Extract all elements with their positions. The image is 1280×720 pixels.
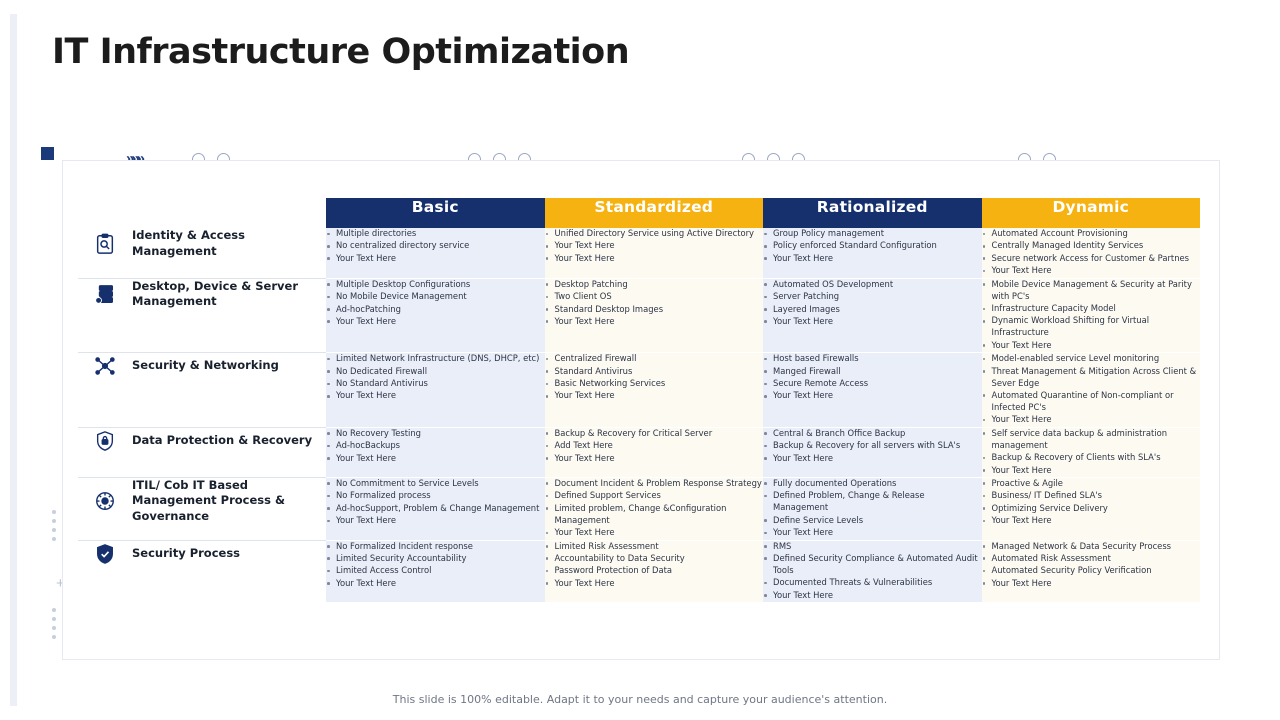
cell-basic-identity: Multiple directories No centralized dire…: [326, 228, 545, 278]
bullet: Automated Quarantine of Non-compliant or…: [982, 390, 1201, 414]
bullet: Manged Firewall: [763, 366, 982, 378]
bullet: Your Text Here: [545, 390, 764, 402]
bullet: Your Text Here: [326, 316, 545, 328]
bullet: Multiple Desktop Configurations: [326, 279, 545, 291]
bullet: Password Protection of Data: [545, 565, 764, 577]
bullet: Your Text Here: [982, 414, 1201, 426]
cell-basic-itil: No Commitment to Service Levels No Forma…: [326, 477, 545, 540]
cell-rationalized-security-process: RMS Defined Security Compliance & Automa…: [763, 540, 982, 603]
bullet: Basic Networking Services: [545, 378, 764, 390]
bullet: Group Policy management: [763, 228, 982, 240]
bullet: Your Text Here: [326, 578, 545, 590]
page-title: IT Infrastructure Optimization: [52, 32, 629, 72]
bullet: Unified Directory Service using Active D…: [545, 228, 764, 240]
side-dots-upper: [52, 510, 56, 541]
bullet: Backup & Recovery of Clients with SLA's: [982, 452, 1201, 464]
bullet: Automated Account Provisioning: [982, 228, 1201, 240]
bullet: RMS: [763, 541, 982, 553]
bullet: Ad-hocSupport, Problem & Change Manageme…: [326, 503, 545, 515]
bullet: Your Text Here: [763, 390, 982, 402]
row-label-security-process: Security Process: [78, 540, 326, 603]
cell-standardized-data-protection: Backup & Recovery for Critical Server Ad…: [545, 427, 764, 477]
bullet: No Mobile Device Management: [326, 291, 545, 303]
cell-basic-security-process: No Formalized Incident response Limited …: [326, 540, 545, 603]
cell-standardized-desktop: Desktop Patching Two Client OS Standard …: [545, 278, 764, 353]
bullet: Define Service Levels: [763, 515, 982, 527]
cell-dynamic-itil: Proactive & Agile Business/ IT Defined S…: [982, 477, 1201, 540]
bullet: Centrally Managed Identity Services: [982, 240, 1201, 252]
bullet: Centralized Firewall: [545, 353, 764, 365]
bullet: Your Text Here: [545, 253, 764, 265]
row-label-text: Data Protection & Recovery: [132, 433, 312, 449]
bullet: Backup & Recovery for all servers with S…: [763, 440, 982, 452]
bullet: No Commitment to Service Levels: [326, 478, 545, 490]
header-spacer: [78, 198, 326, 228]
bullet: Standard Antivirus: [545, 366, 764, 378]
row-label-security-networking: Security & Networking: [78, 353, 326, 428]
bullet: No Dedicated Firewall: [326, 366, 545, 378]
bullet: Your Text Here: [763, 253, 982, 265]
bullet: Secure Remote Access: [763, 378, 982, 390]
bullet: Infrastructure Capacity Model: [982, 303, 1201, 315]
footer-note: This slide is 100% editable. Adapt it to…: [0, 693, 1280, 706]
accent-square: [41, 147, 54, 160]
cell-rationalized-itil: Fully documented Operations Defined Prob…: [763, 477, 982, 540]
bullet: Self service data backup & administratio…: [982, 428, 1201, 452]
row-label-text: Security & Networking: [132, 358, 279, 374]
bullet: Your Text Here: [982, 340, 1201, 352]
bullet: Your Text Here: [545, 527, 764, 539]
column-header-standardized: Standardized: [545, 198, 764, 228]
bullet: Desktop Patching: [545, 279, 764, 291]
bullet: Your Text Here: [763, 316, 982, 328]
bullet: No Formalized process: [326, 490, 545, 502]
bullet: Defined Support Services: [545, 490, 764, 502]
bullet: No centralized directory service: [326, 240, 545, 252]
bullet: Limited Access Control: [326, 565, 545, 577]
bullet: Server Patching: [763, 291, 982, 303]
bullet: Automated Security Policy Verification: [982, 565, 1201, 577]
column-header-dynamic: Dynamic: [982, 198, 1201, 228]
row-label-itil-cobit-governance: ITIL/ Cob IT Based Management Process & …: [78, 477, 326, 540]
cell-dynamic-security-networking: Model-enabled service Level monitoring T…: [982, 353, 1201, 428]
side-dots-lower: [52, 608, 56, 639]
row-label-text: Identity & Access Management: [132, 228, 326, 259]
column-header-basic: Basic: [326, 198, 545, 228]
bullet: Your Text Here: [982, 515, 1201, 527]
matrix-header-row: Basic Standardized Rationalized Dynamic: [78, 198, 1200, 228]
bullet: Your Text Here: [326, 515, 545, 527]
cell-standardized-itil: Document Incident & Problem Response Str…: [545, 477, 764, 540]
maturity-matrix: Basic Standardized Rationalized Dynamic …: [78, 198, 1200, 603]
table-row: Identity & Access Management Multiple di…: [78, 228, 1200, 278]
row-label-text: ITIL/ Cob IT Based Management Process & …: [132, 478, 326, 525]
cell-rationalized-security-networking: Host based Firewalls Manged Firewall Sec…: [763, 353, 982, 428]
shield-check-icon: [92, 541, 118, 567]
bullet: Secure network Access for Customer & Par…: [982, 253, 1201, 265]
table-row: Security Process No Formalized Incident …: [78, 540, 1200, 603]
bullet: Multiple directories: [326, 228, 545, 240]
bullet: Central & Branch Office Backup: [763, 428, 982, 440]
bullet: Business/ IT Defined SLA's: [982, 490, 1201, 502]
table-row: Security & Networking Limited Network In…: [78, 353, 1200, 428]
bullet: Your Text Here: [982, 578, 1201, 590]
bullet: Dynamic Workload Shifting for Virtual In…: [982, 315, 1201, 339]
bullet: No Formalized Incident response: [326, 541, 545, 553]
data-shield-lock-icon: [92, 428, 118, 454]
bullet: Your Text Here: [982, 265, 1201, 277]
bullet: Standard Desktop Images: [545, 304, 764, 316]
bullet: Fully documented Operations: [763, 478, 982, 490]
bullet: Limited Security Accountability: [326, 553, 545, 565]
bullet: Your Text Here: [763, 590, 982, 602]
server-gear-icon: [92, 281, 118, 307]
cell-rationalized-desktop: Automated OS Development Server Patching…: [763, 278, 982, 353]
bullet: Proactive & Agile: [982, 478, 1201, 490]
bullet: Documented Threats & Vulnerabilities: [763, 577, 982, 589]
bullet: Defined Security Compliance & Automated …: [763, 553, 982, 577]
bullet: Limited Risk Assessment: [545, 541, 764, 553]
column-header-rationalized: Rationalized: [763, 198, 982, 228]
bullet: Threat Management & Mitigation Across Cl…: [982, 366, 1201, 390]
bullet: Automated OS Development: [763, 279, 982, 291]
bullet: Your Text Here: [326, 253, 545, 265]
bullet: Accountability to Data Security: [545, 553, 764, 565]
bullet: Your Text Here: [763, 527, 982, 539]
bullet: Limited problem, Change &Configuration M…: [545, 503, 764, 527]
bullet: Document Incident & Problem Response Str…: [545, 478, 764, 490]
process-gear-icon: [92, 488, 118, 514]
bullet: Ad-hocPatching: [326, 304, 545, 316]
cell-basic-desktop: Multiple Desktop Configurations No Mobil…: [326, 278, 545, 353]
bullet: Automated Risk Assessment: [982, 553, 1201, 565]
bullet: Backup & Recovery for Critical Server: [545, 428, 764, 440]
bullet: Optimizing Service Delivery: [982, 503, 1201, 515]
network-nodes-icon: [92, 353, 118, 379]
bullet: Ad-hocBackups: [326, 440, 545, 452]
bullet: Layered Images: [763, 304, 982, 316]
cell-basic-data-protection: No Recovery Testing Ad-hocBackups Your T…: [326, 427, 545, 477]
row-label-data-protection-recovery: Data Protection & Recovery: [78, 427, 326, 477]
bullet: Your Text Here: [545, 316, 764, 328]
cell-basic-security-networking: Limited Network Infrastructure (DNS, DHC…: [326, 353, 545, 428]
bullet: Your Text Here: [763, 453, 982, 465]
bullet: No Recovery Testing: [326, 428, 545, 440]
row-label-text: Security Process: [132, 546, 240, 562]
bullet: Mobile Device Management & Security at P…: [982, 279, 1201, 303]
bullet: Your Text Here: [982, 465, 1201, 477]
bullet: Policy enforced Standard Configuration: [763, 240, 982, 252]
bullet: Your Text Here: [545, 240, 764, 252]
row-label-identity-access-management: Identity & Access Management: [78, 228, 326, 278]
cell-rationalized-identity: Group Policy management Policy enforced …: [763, 228, 982, 278]
bullet: No Standard Antivirus: [326, 378, 545, 390]
bullet: Two Client OS: [545, 291, 764, 303]
cell-dynamic-desktop: Mobile Device Management & Security at P…: [982, 278, 1201, 353]
cell-dynamic-identity: Automated Account Provisioning Centrally…: [982, 228, 1201, 278]
bullet: Add Text Here: [545, 440, 764, 452]
bullet: Model-enabled service Level monitoring: [982, 353, 1201, 365]
bullet: Defined Problem, Change & Release Manage…: [763, 490, 982, 514]
table-row: ITIL/ Cob IT Based Management Process & …: [78, 477, 1200, 540]
bullet: Host based Firewalls: [763, 353, 982, 365]
cell-standardized-security-networking: Centralized Firewall Standard Antivirus …: [545, 353, 764, 428]
cell-rationalized-data-protection: Central & Branch Office Backup Backup & …: [763, 427, 982, 477]
cell-standardized-identity: Unified Directory Service using Active D…: [545, 228, 764, 278]
row-label-text: Desktop, Device & Server Management: [132, 279, 326, 310]
row-label-desktop-device-server-management: Desktop, Device & Server Management: [78, 278, 326, 353]
cell-dynamic-data-protection: Self service data backup & administratio…: [982, 427, 1201, 477]
cell-standardized-security-process: Limited Risk Assessment Accountability t…: [545, 540, 764, 603]
left-accent-bar: [10, 14, 17, 706]
bullet: Your Text Here: [545, 578, 764, 590]
bullet: Your Text Here: [326, 390, 545, 402]
cell-dynamic-security-process: Managed Network & Data Security Process …: [982, 540, 1201, 603]
table-row: Data Protection & Recovery No Recovery T…: [78, 427, 1200, 477]
bullet: Limited Network Infrastructure (DNS, DHC…: [326, 353, 545, 365]
clipboard-search-icon: [92, 231, 118, 257]
bullet: Managed Network & Data Security Process: [982, 541, 1201, 553]
bullet: Your Text Here: [326, 453, 545, 465]
table-row: Desktop, Device & Server Management Mult…: [78, 278, 1200, 353]
bullet: Your Text Here: [545, 453, 764, 465]
